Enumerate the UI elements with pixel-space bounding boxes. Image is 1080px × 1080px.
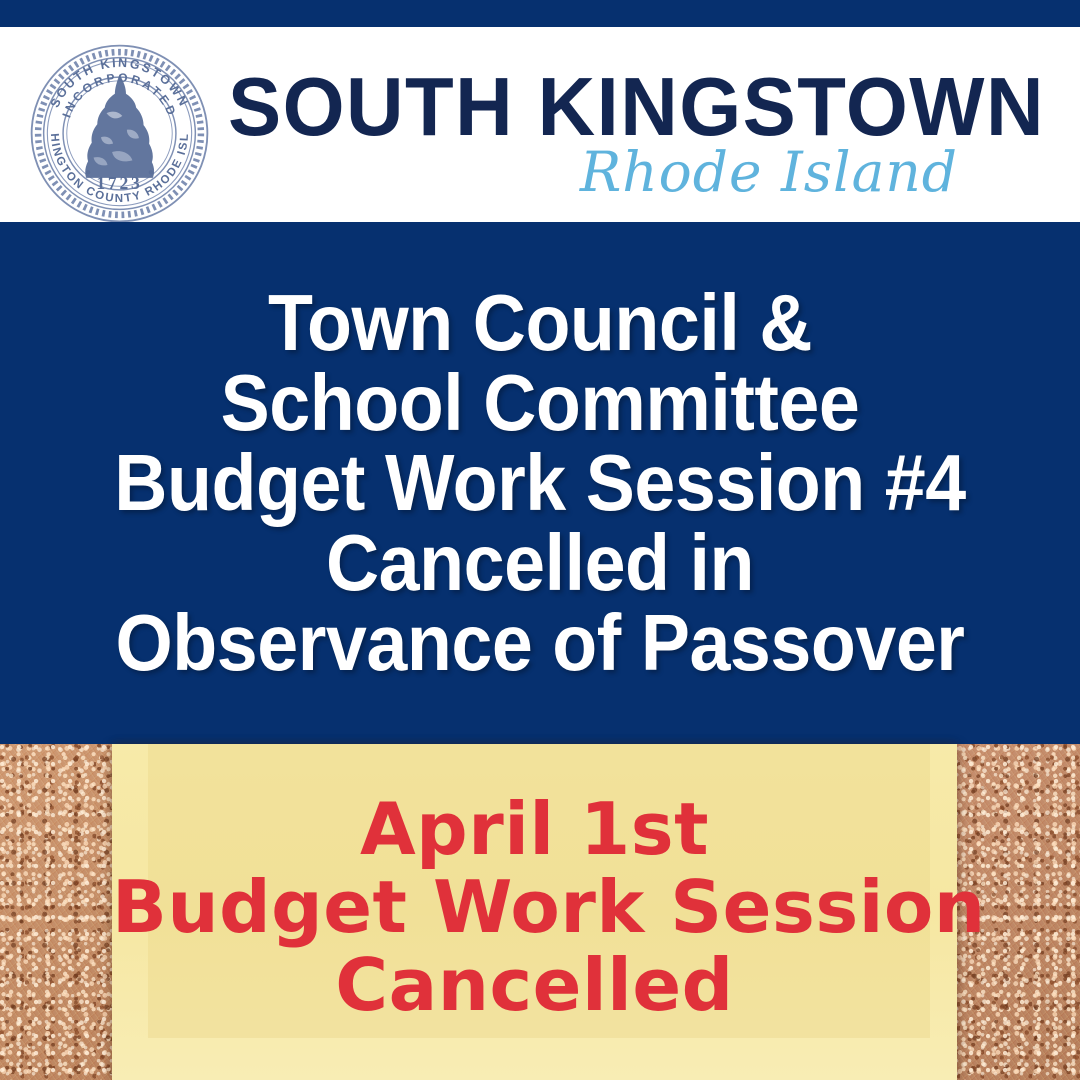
notice-line-2: Budget Work Session (112, 868, 957, 946)
announcement-banner: Town Council & School Committee Budget W… (0, 222, 1080, 744)
svg-text:1723: 1723 (96, 173, 142, 193)
town-wordmark: SOUTH KINGSTOWN Rhode Island (228, 45, 958, 220)
top-accent-bar (0, 0, 1080, 27)
wordmark-subtitle: Rhode Island (580, 142, 958, 202)
headline-line-4: Cancelled in (57, 523, 1023, 603)
headline-line-2: School Committee (57, 363, 1023, 443)
announcement-poster: SOUTH KINGSTOWN WASHINGTON COUNTY RHODE … (0, 0, 1080, 1080)
notice-line-3: Cancelled (112, 946, 957, 1024)
wordmark-title: SOUTH KINGSTOWN (228, 65, 929, 149)
header-band: SOUTH KINGSTOWN WASHINGTON COUNTY RHODE … (0, 27, 1080, 222)
notice-text: April 1st Budget Work Session Cancelled (112, 790, 957, 1024)
notice-sheet: April 1st Budget Work Session Cancelled (112, 744, 957, 1080)
banner-headline: Town Council & School Committee Budget W… (15, 283, 1065, 683)
headline-line-1: Town Council & (57, 283, 1023, 363)
town-seal-icon: SOUTH KINGSTOWN WASHINGTON COUNTY RHODE … (27, 41, 212, 226)
headline-line-3: Budget Work Session #4 (57, 443, 1023, 523)
notice-line-1: April 1st (112, 790, 957, 868)
headline-line-5: Observance of Passover (57, 603, 1023, 683)
